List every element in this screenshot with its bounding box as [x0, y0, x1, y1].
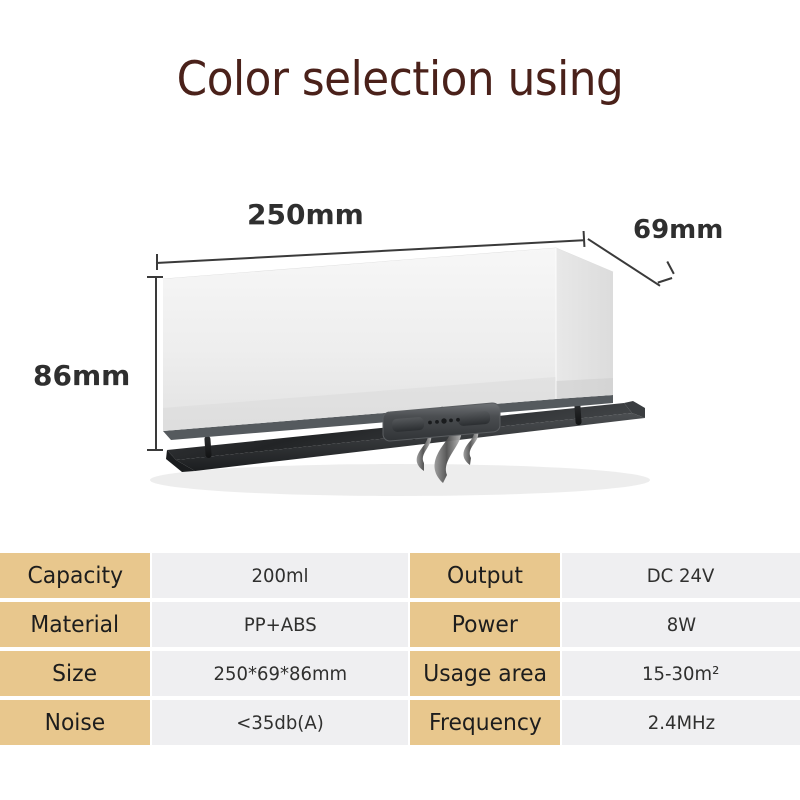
spec-value-size-text: 250*69*86mm	[213, 663, 347, 685]
spec-value-frequency-text: 2.4MHz	[647, 712, 714, 734]
spec-value-usage-area-text: 15-30m²	[642, 663, 719, 685]
spec-value-power-text: 8W	[666, 614, 695, 636]
spec-label-power-text: Power	[452, 612, 518, 638]
spec-value-capacity-text: 200ml	[251, 565, 308, 587]
spec-label-frequency: Frequency	[410, 700, 560, 745]
spec-value-capacity: 200ml	[152, 553, 408, 598]
title-block: Color selection using	[0, 56, 800, 103]
spec-label-size-text: Size	[53, 661, 98, 687]
spec-label-output-text: Output	[447, 563, 523, 589]
spec-label-capacity: Capacity	[0, 553, 150, 598]
spec-label-material: Material	[0, 602, 150, 647]
spec-label-output: Output	[410, 553, 560, 598]
spec-value-noise-text: <35db(A)	[236, 712, 323, 734]
spec-value-output-text: DC 24V	[647, 565, 715, 587]
spec-label-noise: Noise	[0, 700, 150, 745]
table-row: Capacity 200ml Output DC 24V	[0, 553, 800, 598]
spec-value-material: PP+ABS	[152, 602, 408, 647]
spec-label-noise-text: Noise	[45, 710, 106, 736]
spec-value-frequency: 2.4MHz	[562, 700, 800, 745]
table-row: Size 250*69*86mm Usage area 15-30m²	[0, 651, 800, 696]
spec-value-size: 250*69*86mm	[152, 651, 408, 696]
spec-value-power: 8W	[562, 602, 800, 647]
spec-value-usage-area: 15-30m²	[562, 651, 800, 696]
page-title: Color selection using	[28, 56, 772, 103]
ground-shadow	[150, 464, 650, 496]
table-row: Noise <35db(A) Frequency 2.4MHz	[0, 700, 800, 745]
spec-value-noise: <35db(A)	[152, 700, 408, 745]
body-side-face	[556, 248, 613, 399]
spec-value-output: DC 24V	[562, 553, 800, 598]
control-button-right	[458, 411, 491, 426]
table-row: Material PP+ABS Power 8W	[0, 602, 800, 647]
product-image	[0, 150, 800, 540]
product-hero: 250mm 69mm 86mm	[0, 150, 800, 540]
spec-label-size: Size	[0, 651, 150, 696]
spec-value-material-text: PP+ABS	[244, 614, 317, 636]
spec-label-frequency-text: Frequency	[429, 710, 542, 736]
control-button-left	[392, 417, 425, 432]
spec-label-usage-area: Usage area	[410, 651, 560, 696]
spec-label-usage-area-text: Usage area	[423, 661, 547, 687]
spec-table: Capacity 200ml Output DC 24V Material PP…	[0, 553, 800, 745]
spec-label-material-text: Material	[31, 612, 120, 638]
spec-label-power: Power	[410, 602, 560, 647]
spec-label-capacity-text: Capacity	[27, 563, 122, 589]
